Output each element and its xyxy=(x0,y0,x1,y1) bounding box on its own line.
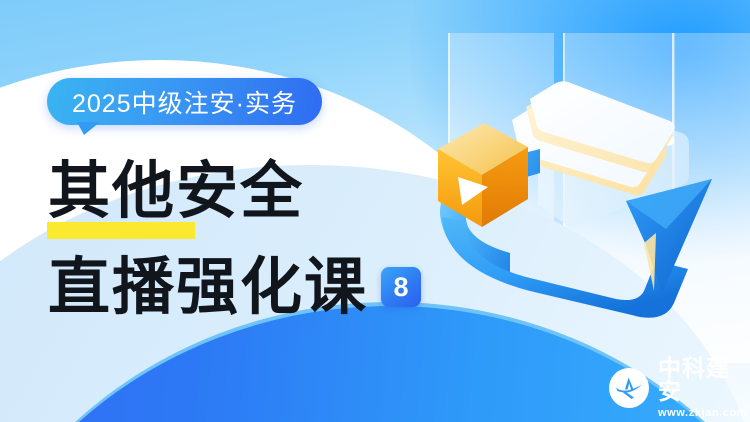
course-cover-banner: 2025中级注安·实务 其他安全 直播强化课 8 中科建安 www.zkjan.… xyxy=(0,0,750,422)
zkjan-person-swoosh-icon xyxy=(609,368,649,408)
brand-logo: 中科建安 www.zkjan.com xyxy=(609,357,750,419)
course-title-line-1: 其他安全 xyxy=(48,160,304,222)
folder-arrow-illustration xyxy=(430,55,730,330)
course-title-line-2: 直播强化课 xyxy=(48,256,368,318)
brand-website-url: www.zkjan.com xyxy=(658,408,750,419)
background-panel-2 xyxy=(563,33,675,363)
brand-name-cn: 中科建安 xyxy=(658,357,750,403)
episode-number-badge: 8 xyxy=(381,267,421,307)
brand-logo-text: 中科建安 www.zkjan.com xyxy=(658,357,750,419)
course-title-line-2-row: 直播强化课 8 xyxy=(48,256,421,318)
course-category-badge-label: 2025中级注安·实务 xyxy=(47,78,322,125)
background-panel-3 xyxy=(672,33,750,363)
badge-tail xyxy=(77,122,100,135)
background-panel-1 xyxy=(448,33,554,363)
background-glow xyxy=(410,0,750,260)
course-category-badge: 2025中级注安·实务 xyxy=(47,78,322,125)
